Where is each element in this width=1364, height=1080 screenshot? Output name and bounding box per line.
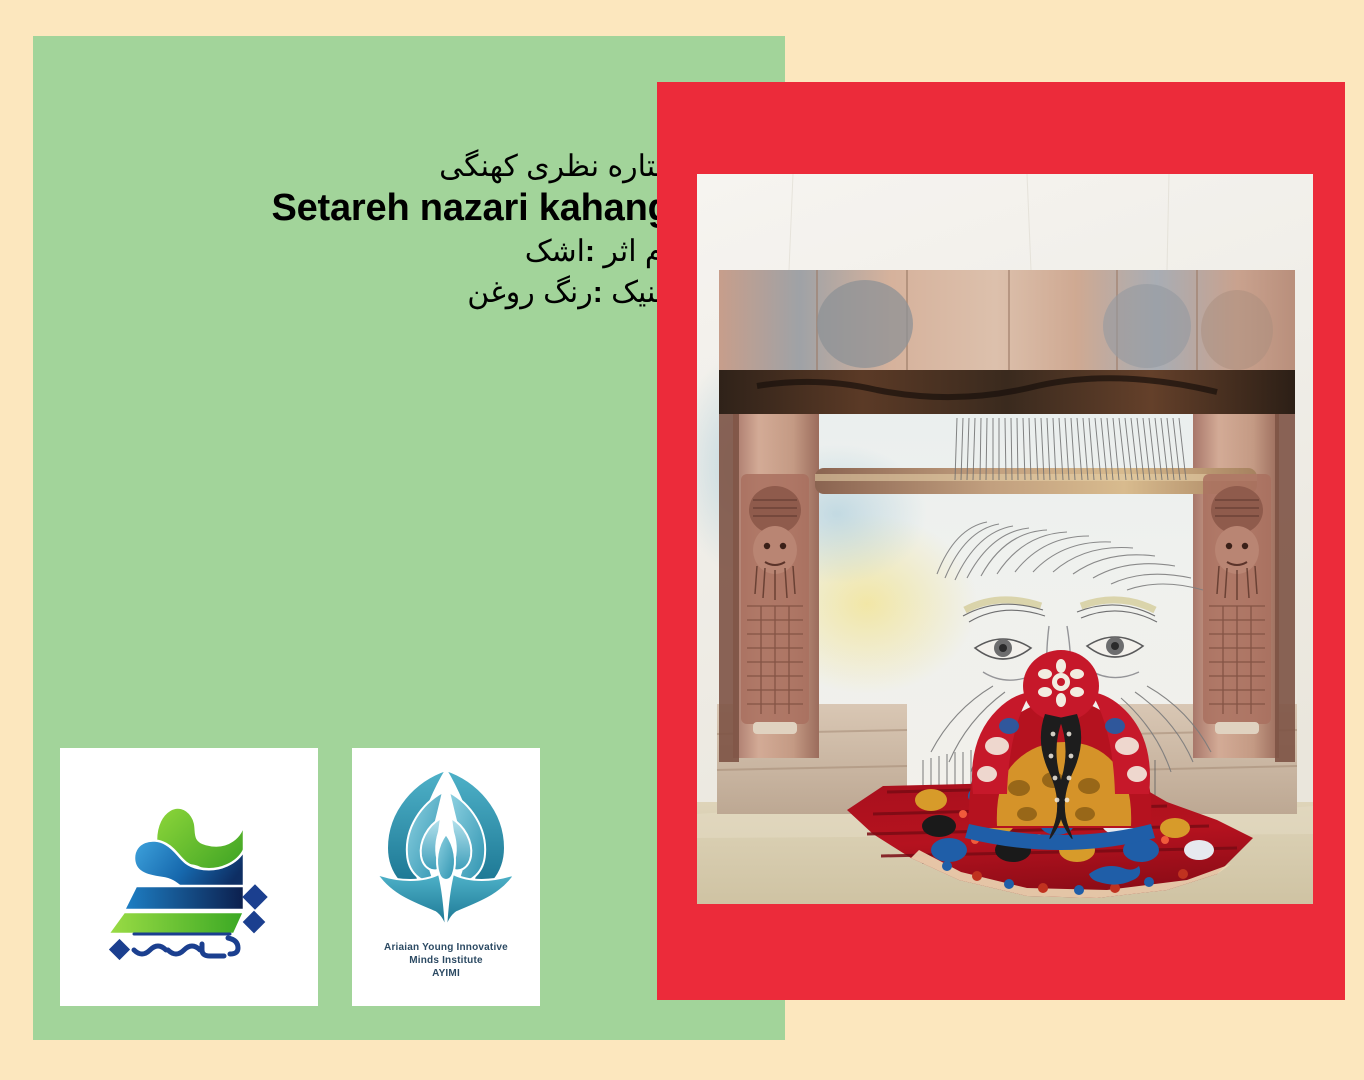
elmdasht-logo-icon: علم دشت (94, 792, 284, 962)
artwork-relief-right (1203, 474, 1271, 734)
elmdasht-wordmark-diamond (109, 939, 130, 960)
credits-block: ستاره نظری کهنگی Setareh nazari kahangi … (33, 148, 681, 313)
artwork-relief-left-eye-1 (764, 543, 770, 549)
artwork-weather-patch-1 (817, 280, 913, 368)
artwork-relief-right-eye-1 (1226, 543, 1232, 549)
logo-card-elmdasht: علم دشت (60, 748, 318, 1006)
artwork-relief-right-eye-2 (1242, 543, 1248, 549)
artwork-relief-left-foot (753, 722, 797, 734)
artwork-relief-right-foot (1215, 722, 1259, 734)
artwork-pupil-left (999, 644, 1007, 652)
artwork-title-line: نام اثر :اشک (33, 231, 681, 272)
ayimi-logo-inner: Ariaian Young Innovative Minds Institute… (352, 748, 540, 1006)
elmdasht-blue-slab (124, 886, 244, 910)
artwork-relief-left-head (753, 526, 797, 574)
elmdasht-logo-inner: علم دشت (60, 748, 318, 1006)
poster-root: ستاره نظری کهنگی Setareh nazari kahangi … (0, 0, 1364, 1080)
artwork-relief-left-eye-2 (780, 543, 786, 549)
artwork-pupil-right (1111, 642, 1119, 650)
artwork-image (697, 174, 1313, 904)
artist-name-en: Setareh nazari kahangi (33, 186, 681, 231)
artwork-title-value: اشک (525, 235, 585, 268)
artwork-frame (697, 174, 1313, 904)
artist-name-fa: ستاره نظری کهنگی (33, 148, 681, 186)
artwork-relief-right-head (1215, 526, 1259, 574)
elmdasht-diamond-upper (242, 884, 267, 909)
elmdasht-wordmark-strokes (134, 934, 238, 956)
artwork-technique-value: رنگ روغن (467, 276, 593, 309)
ayimi-calyx (377, 874, 515, 930)
logo-card-ayimi: Ariaian Young Innovative Minds Institute… (352, 748, 540, 1006)
ayimi-caption: Ariaian Young Innovative Minds Institute… (352, 941, 540, 980)
artwork-technique-line: تکنیک :رنگ روغن (33, 272, 681, 313)
elmdasht-green-slab (108, 912, 244, 934)
artwork-weather-patch-2 (1103, 284, 1191, 368)
ayimi-caption-line1: Ariaian Young Innovative (352, 941, 540, 954)
artwork-weather-patch-3 (1201, 290, 1273, 370)
elmdasht-diamond-lower (243, 911, 266, 934)
ayimi-lotus-icon (365, 762, 527, 942)
ayimi-caption-line2: Minds Institute (352, 954, 540, 967)
ayimi-caption-line3: AYIMI (352, 967, 540, 980)
artwork-technique-colon: : (593, 276, 603, 309)
artwork-title-colon: : (585, 235, 595, 268)
artwork-relief-left (741, 474, 809, 734)
artwork-loom-beam-highlight (815, 474, 1257, 481)
